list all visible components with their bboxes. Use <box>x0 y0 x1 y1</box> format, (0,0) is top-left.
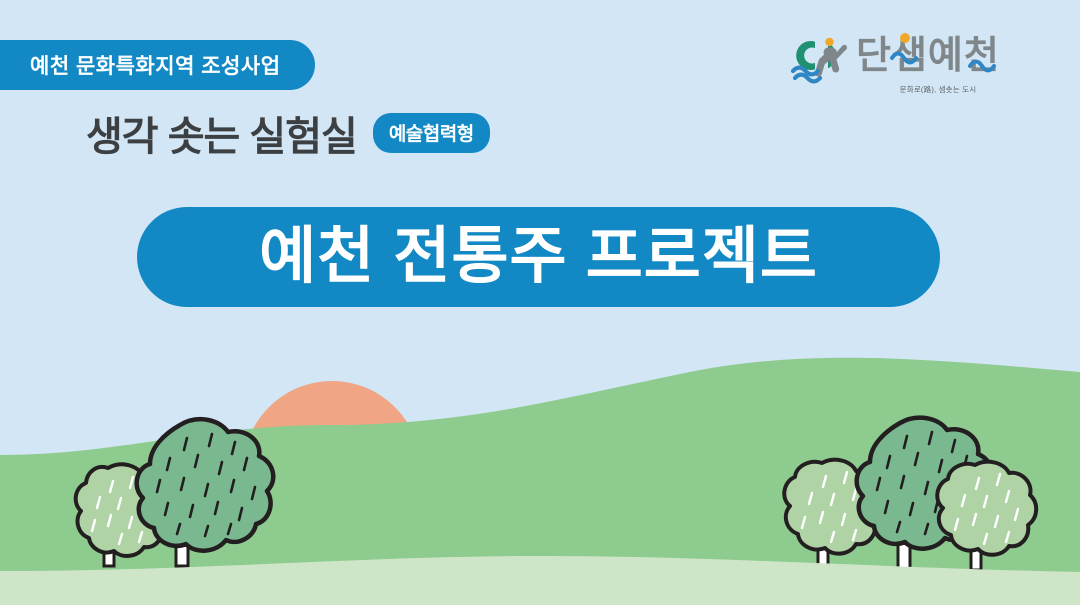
logo-tagline: 문화로(路), 샘솟는 도시 <box>858 84 1018 95</box>
page-title: 예천 전통주 프로젝트 <box>259 226 818 288</box>
eyebrow-label: 예천 문화특화지역 조성사업 <box>30 50 281 80</box>
svg-text:단샘예천: 단샘예천 <box>856 35 1000 77</box>
subtitle-text: 생각 솟는 실험실 <box>86 104 357 162</box>
subtitle-row: 생각 솟는 실험실 예술협력형 <box>86 104 490 162</box>
dansaem-yecheon-logo: 단샘예천 문화로(路), 샘솟는 도시 <box>786 28 1018 104</box>
main-title-box: 예천 전통주 프로젝트 <box>137 207 940 307</box>
program-type-badge: 예술협력형 <box>373 113 490 153</box>
dansaem-emblem-icon <box>786 30 852 84</box>
program-type-label: 예술협력형 <box>389 119 474 146</box>
poster-canvas: 예천 문화특화지역 조성사업 생각 솟는 실험실 예술협력형 예천 전통주 프로… <box>0 0 1080 605</box>
dansaem-wordmark: 단샘예천 <box>856 28 1016 82</box>
eyebrow-badge: 예천 문화특화지역 조성사업 <box>0 40 315 90</box>
